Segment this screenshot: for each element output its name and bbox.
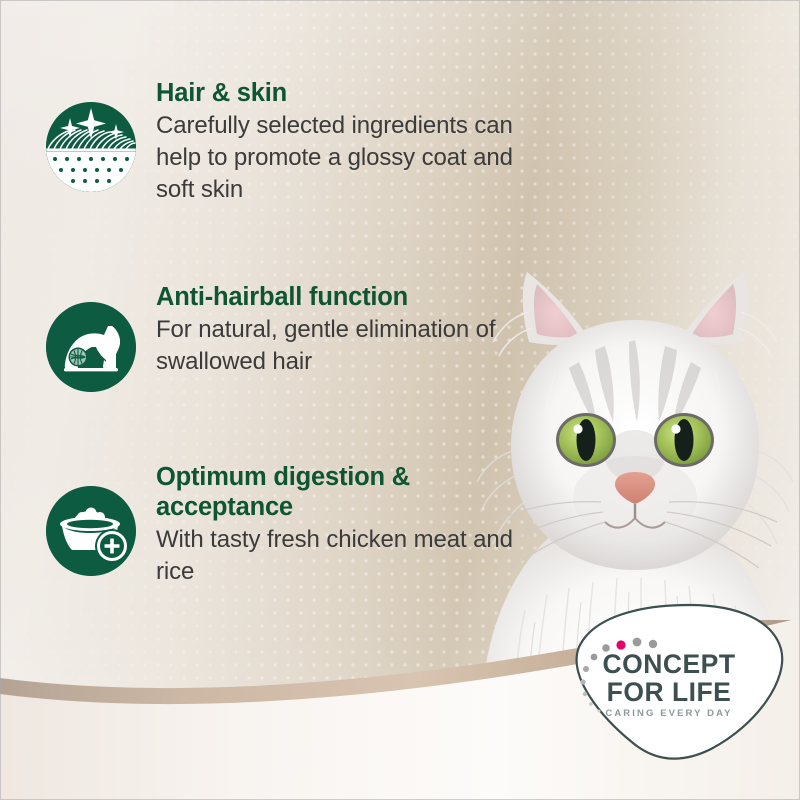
feature-title: Anti-hairball function [156, 282, 540, 312]
feature-text-block: Hair & skin Carefully selected ingredien… [156, 78, 540, 206]
feature-text-block: Optimum digestion & acceptance With tast… [156, 462, 540, 588]
product-benefits-banner: Hair & skin Carefully selected ingredien… [0, 0, 800, 800]
feature-text-block: Anti-hairball function For natural, gent… [156, 282, 540, 378]
feature-title: Hair & skin [156, 78, 540, 108]
feature-body: With tasty fresh chicken meat and rice [156, 524, 540, 588]
feature-title: Optimum digestion & acceptance [156, 462, 540, 522]
feature-item-hair-skin: Hair & skin Carefully selected ingredien… [46, 78, 540, 206]
feature-item-optimum-digestion: Optimum digestion & acceptance With tast… [46, 462, 540, 588]
hair-skin-icon [46, 102, 136, 192]
feature-body: Carefully selected ingredients can help … [156, 110, 540, 206]
brand-logo-badge[interactable]: CONCEPT FOR LIFE CARING EVERY DAY [553, 603, 785, 763]
anti-hairball-cat-icon [46, 302, 136, 392]
feature-body: For natural, gentle elimination of swall… [156, 314, 540, 378]
food-bowl-plus-icon [46, 486, 136, 576]
feature-item-anti-hairball: Anti-hairball function For natural, gent… [46, 282, 540, 392]
